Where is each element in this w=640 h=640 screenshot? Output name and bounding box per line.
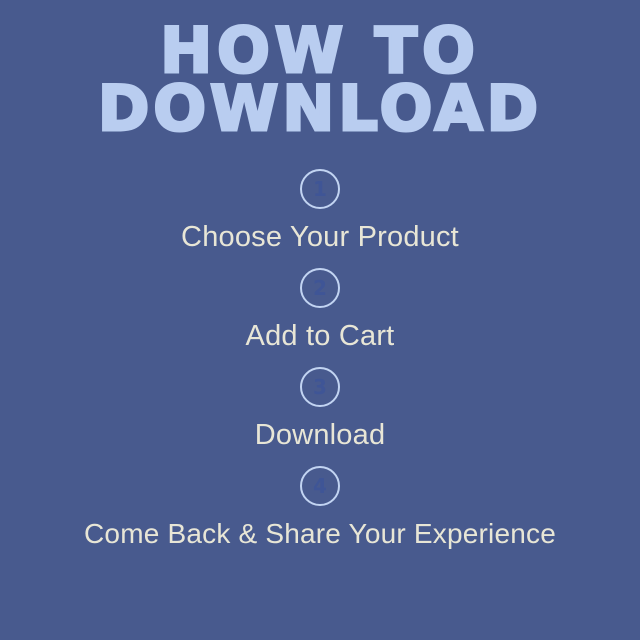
step-number-badge: 3 (300, 367, 340, 407)
step-item: 4 Come Back & Share Your Experience (84, 466, 556, 550)
step-label: Add to Cart (246, 320, 395, 353)
step-item: 2 Add to Cart (246, 268, 395, 353)
step-number: 2 (313, 276, 327, 300)
step-label: Choose Your Product (181, 221, 459, 254)
poster-title: HOW TO DOWNLOAD (98, 22, 542, 139)
step-number-badge: 2 (300, 268, 340, 308)
step-number: 4 (313, 474, 327, 498)
step-item: 3 Download (255, 367, 386, 452)
poster-title-line-2: DOWNLOAD (98, 80, 542, 138)
how-to-download-poster: HOW TO DOWNLOAD 1 Choose Your Product 2 … (0, 0, 640, 640)
step-number: 1 (313, 177, 327, 201)
step-item: 1 Choose Your Product (181, 169, 459, 254)
step-number-badge: 4 (300, 466, 340, 506)
step-label: Come Back & Share Your Experience (84, 518, 556, 550)
step-number-badge: 1 (300, 169, 340, 209)
step-number: 3 (313, 375, 327, 399)
steps-list: 1 Choose Your Product 2 Add to Cart 3 Do… (0, 169, 640, 564)
step-label: Download (255, 419, 386, 452)
